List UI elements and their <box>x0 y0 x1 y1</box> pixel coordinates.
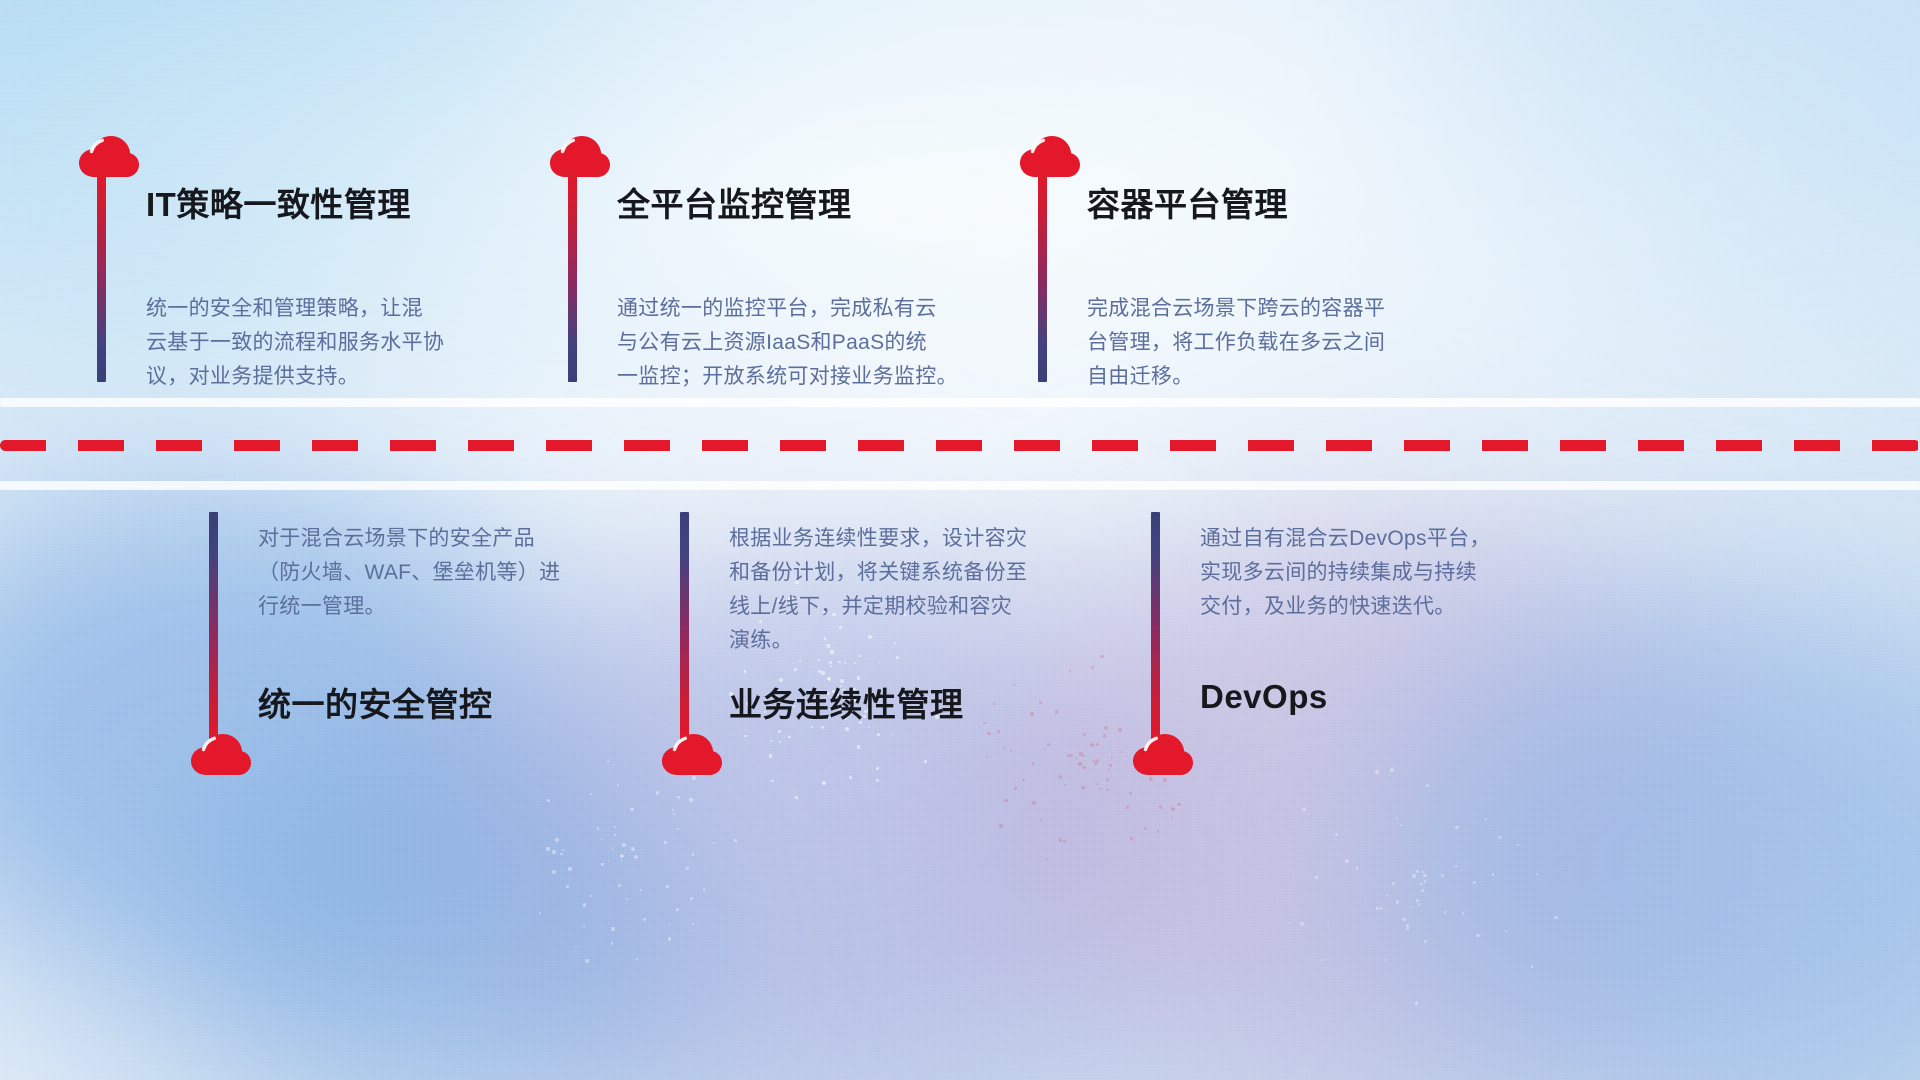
background-speck <box>788 736 791 739</box>
cloud-icon <box>549 133 611 179</box>
background-speck <box>1014 787 1017 790</box>
background-speck <box>1069 670 1071 672</box>
background-speck <box>566 885 569 888</box>
background-speck <box>617 784 619 786</box>
background-speck <box>1032 801 1036 805</box>
background-speck <box>993 703 995 705</box>
pillar-description: 根据业务连续性要求，设计容灾 和备份计划，将关键系统备份至 线上/线下，并定期校… <box>729 522 1089 658</box>
background-speck <box>686 867 689 870</box>
background-speck <box>585 959 589 963</box>
background-speck <box>583 925 585 927</box>
background-speck <box>1390 768 1394 772</box>
background-speck <box>590 895 592 897</box>
background-speck <box>1392 882 1395 885</box>
background-speck <box>611 927 614 930</box>
background-speck <box>634 855 638 859</box>
background-speck <box>1422 871 1425 874</box>
background-speck <box>877 733 880 736</box>
section-divider <box>0 398 1920 490</box>
background-speck <box>1063 840 1066 843</box>
background-speck <box>1321 959 1323 961</box>
background-speck <box>876 779 879 782</box>
background-speck <box>1032 762 1035 765</box>
background-speck <box>1076 757 1078 759</box>
pillar-description: 统一的安全和管理策略，让混 云基于一致的流程和服务水平协 议，对业务提供支持。 <box>146 292 506 394</box>
background-speck <box>666 885 669 888</box>
background-speck <box>1345 859 1349 863</box>
divider-rule-top <box>0 398 1920 407</box>
background-speck <box>597 827 600 830</box>
background-speck <box>1094 762 1097 765</box>
background-speck <box>568 867 571 870</box>
pillar-description: 通过自有混合云DevOps平台， 实现多云间的持续集成与持续 交付，及业务的快速… <box>1200 522 1550 624</box>
background-speck <box>778 730 781 733</box>
background-speck <box>692 853 695 856</box>
background-speck <box>664 841 667 844</box>
pillar-description: 通过统一的监控平台，完成私有云 与公有云上资源IaaS和PaaS的统 一监控；开… <box>617 292 1007 394</box>
background-speck <box>1104 726 1108 730</box>
background-speck <box>672 809 674 811</box>
background-speck <box>1129 792 1132 795</box>
background-speck <box>1130 837 1133 840</box>
background-speck <box>1335 833 1338 836</box>
background-speck <box>1412 874 1416 878</box>
pillar-title: 业务连续性管理 <box>729 678 964 726</box>
background-speck <box>1082 766 1085 769</box>
background-speck <box>560 853 563 856</box>
background-speck <box>546 847 550 851</box>
background-speck <box>1013 684 1015 686</box>
background-speck <box>769 754 772 757</box>
background-speck <box>1177 803 1180 806</box>
background-speck <box>1171 807 1174 810</box>
background-speck <box>1103 734 1106 737</box>
background-speck <box>703 888 706 891</box>
background-speck <box>983 722 985 724</box>
pillar-stem <box>1151 512 1160 744</box>
pillar-stem <box>97 168 106 382</box>
pillar-description: 完成混合云场景下跨云的容器平 台管理，将工作负载在多云之间 自由迁移。 <box>1087 292 1457 394</box>
cloud-icon <box>661 731 723 777</box>
background-speck <box>1163 778 1167 782</box>
background-speck <box>1090 743 1094 747</box>
cloud-icon <box>190 731 252 777</box>
background-speck <box>640 889 642 891</box>
background-speck <box>583 903 586 906</box>
background-speck <box>844 662 846 664</box>
background-speck <box>677 828 679 830</box>
background-speck <box>1079 752 1082 755</box>
background-speck <box>676 908 679 911</box>
background-speck <box>1118 728 1122 732</box>
background-speck <box>986 756 988 758</box>
background-speck <box>1327 921 1329 923</box>
pillar-stem <box>680 512 689 744</box>
background-speck <box>555 838 558 841</box>
background-speck <box>876 767 879 770</box>
divider-rule-bottom <box>0 481 1920 490</box>
background-speck <box>1292 877 1294 879</box>
background-speck <box>1416 899 1419 902</box>
background-speck <box>607 760 609 762</box>
background-speck <box>713 842 715 844</box>
background-speck <box>656 791 659 794</box>
background-speck <box>1022 779 1024 781</box>
background-speck <box>1492 873 1495 876</box>
pillar-stem <box>568 168 577 382</box>
background-speck <box>1120 751 1122 753</box>
background-speck <box>1315 876 1318 879</box>
background-speck <box>1476 934 1480 938</box>
background-speck <box>734 839 737 842</box>
background-speck <box>1380 907 1383 910</box>
background-speck <box>1498 836 1500 838</box>
pillar-title: 统一的安全管控 <box>258 678 493 726</box>
background-speck <box>1356 867 1359 870</box>
background-speck <box>689 798 693 802</box>
background-speck <box>1302 808 1306 812</box>
background-speck <box>857 745 860 748</box>
pillar-title: 容器平台管理 <box>1087 178 1288 226</box>
background-speck <box>1462 912 1464 914</box>
pillar-title: DevOps <box>1200 678 1328 716</box>
pillar-title: 全平台监控管理 <box>617 178 852 226</box>
background-speck <box>795 796 798 799</box>
background-speck <box>1410 906 1412 908</box>
pillar-description: 对于混合云场景下的安全产品 （防火墙、WAF、堡垒机等）进 行统一管理。 <box>258 522 608 624</box>
pillar-stem <box>209 512 218 744</box>
background-speck <box>552 870 556 874</box>
background-speck <box>799 660 801 662</box>
background-speck <box>1047 743 1050 746</box>
background-speck <box>1064 784 1066 786</box>
background-speck <box>618 884 621 887</box>
background-speck <box>821 726 824 729</box>
background-speck <box>1376 907 1379 910</box>
background-speck <box>1059 838 1063 842</box>
background-speck <box>999 824 1003 828</box>
background-speck <box>1040 819 1042 821</box>
cloud-icon <box>1019 133 1081 179</box>
background-speck <box>822 781 826 785</box>
background-speck <box>1082 755 1084 757</box>
background-speck <box>1046 858 1048 860</box>
divider-dashed-line <box>0 440 1920 451</box>
background-speck <box>1081 786 1084 789</box>
background-speck <box>771 780 773 782</box>
background-speck <box>818 659 820 661</box>
background-speck <box>1424 880 1427 883</box>
background-speck <box>1108 769 1110 771</box>
background-speck <box>838 661 840 663</box>
background-speck <box>677 796 680 799</box>
background-speck <box>1444 911 1447 914</box>
background-speck <box>690 897 693 900</box>
background-speck <box>1096 743 1099 746</box>
background-speck <box>1149 777 1153 781</box>
cloud-icon <box>1132 731 1194 777</box>
background-speck <box>1106 789 1108 791</box>
background-speck <box>539 912 541 914</box>
background-speck <box>1144 827 1147 830</box>
background-speck <box>1109 764 1112 767</box>
background-speck <box>1421 889 1424 892</box>
background-speck <box>1517 844 1519 846</box>
background-speck <box>854 662 856 664</box>
background-speck <box>1424 940 1427 943</box>
background-speck <box>1423 874 1426 877</box>
background-speck <box>1106 778 1109 781</box>
background-speck <box>879 661 881 663</box>
pillar-stem <box>1038 168 1047 382</box>
background-speck <box>1531 965 1533 967</box>
background-speck <box>1375 770 1379 774</box>
background-speck <box>1030 712 1034 716</box>
pillar-title: IT策略一致性管理 <box>146 178 411 226</box>
cloud-icon <box>78 133 140 179</box>
background-speck <box>821 671 825 675</box>
